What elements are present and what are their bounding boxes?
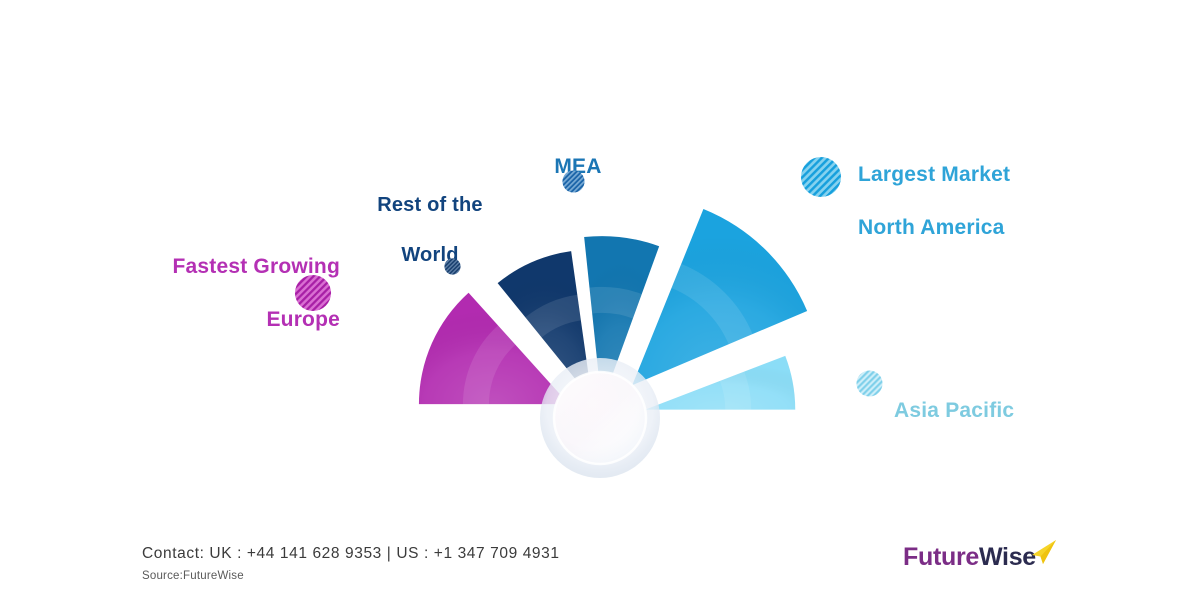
callout-ap-region: Asia Pacific <box>894 398 1094 424</box>
callout-asia-pacific: Asia Pacific <box>894 372 1094 451</box>
brand-word-wise: Wise <box>979 543 1036 571</box>
futurewise-logo: FutureWise <box>903 543 1073 589</box>
legend-dot-rest-of-world-icon <box>444 258 461 275</box>
footer-source-text: Source:FutureWise <box>142 570 244 582</box>
infographic-canvas: Fastest Growing Europe Rest of the World… <box>0 0 1200 600</box>
footer-contact-text: Contact: UK : +44 141 628 9353 | US : +1… <box>142 545 560 563</box>
brand-wordmark: FutureWise <box>903 543 1036 572</box>
brand-word-future: Future <box>903 543 979 571</box>
callout-na-region: North America <box>858 215 1058 241</box>
callout-mea: MEA <box>523 128 633 207</box>
brand-flag-icon <box>1030 539 1058 565</box>
center-hub <box>540 358 660 478</box>
callout-row-line1: Rest of the <box>350 193 510 218</box>
legend-dot-north-america-icon <box>800 156 842 198</box>
callout-row-line2: World <box>350 243 510 268</box>
legend-dot-europe-icon <box>294 274 332 312</box>
callout-rest-of-world: Rest of the World <box>350 168 510 293</box>
callout-na-annotation: Largest Market <box>858 162 1058 188</box>
legend-dot-mea-icon <box>562 170 585 193</box>
callout-north-america: Largest Market North America <box>858 136 1058 267</box>
legend-dot-asia-pacific-icon <box>856 370 883 397</box>
